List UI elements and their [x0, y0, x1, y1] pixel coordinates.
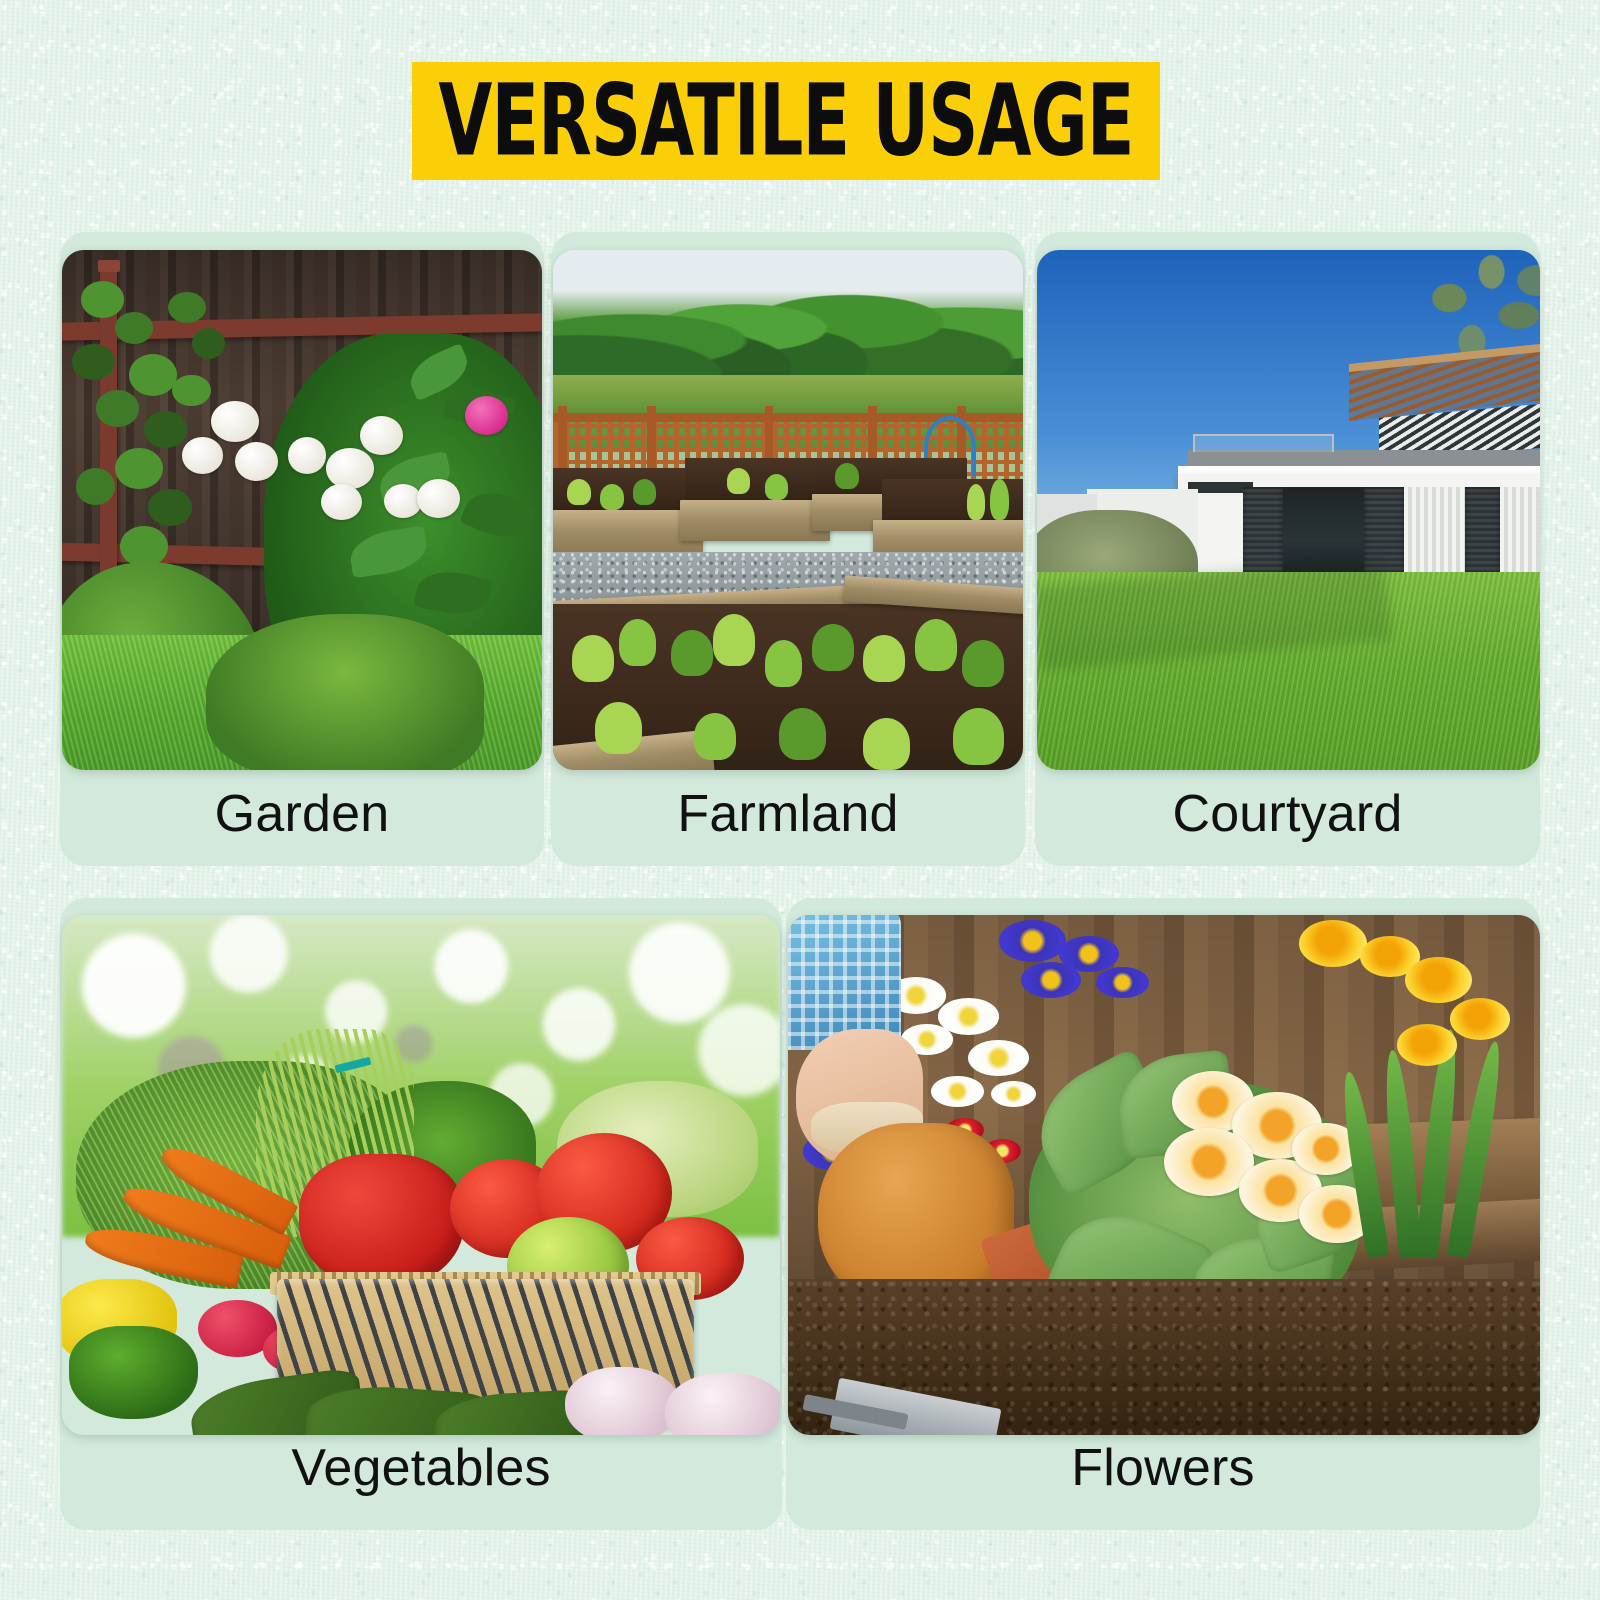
seedling	[727, 468, 751, 494]
ivy-leaf-icon	[144, 411, 187, 447]
photo-vegetables	[62, 915, 780, 1435]
scene-vegetables	[62, 915, 780, 1435]
scene-courtyard	[1037, 250, 1540, 770]
seedling	[600, 484, 624, 510]
white-peony-bloom	[417, 479, 460, 518]
blue-primula-flower	[1096, 967, 1149, 998]
white-primula-flower	[931, 1076, 984, 1107]
ivy-leaf-icon	[115, 448, 163, 490]
louvered-shutter	[1243, 487, 1283, 575]
lettuce-seedling	[765, 640, 803, 687]
seedling	[765, 474, 789, 500]
garlic-bulb	[565, 1367, 680, 1435]
photo-courtyard	[1037, 250, 1540, 770]
white-peony-bloom	[182, 437, 223, 473]
seedling	[567, 479, 591, 505]
ivy-leaf-icon	[96, 390, 139, 426]
daffodil-flower	[1450, 998, 1510, 1040]
ivy-leaf-icon	[129, 354, 177, 396]
banner-title-text: VERSATILE USAGE	[438, 72, 1133, 171]
lettuce-seedling	[572, 635, 614, 682]
ivy-leaf-icon	[148, 489, 191, 525]
ivy-leaf-icon	[192, 328, 226, 359]
scene-flowers	[788, 915, 1540, 1435]
ivy-leaf-icon	[76, 468, 114, 504]
ivy-leaf-icon	[168, 292, 206, 323]
white-peony-bloom	[211, 401, 259, 443]
window-blinds	[1404, 487, 1464, 575]
low-shrub	[206, 614, 484, 770]
window-blinds	[1500, 487, 1540, 575]
louvered-shutter	[1465, 487, 1500, 575]
raised-bed	[680, 500, 830, 542]
lettuce-seedling	[619, 619, 657, 666]
ivy-leaf-icon	[115, 312, 153, 343]
red-bell-pepper	[299, 1154, 464, 1289]
lettuce-seedling	[863, 718, 910, 770]
photo-garden	[62, 250, 542, 770]
daffodil-flower	[1299, 920, 1367, 967]
daffodil-flower	[1397, 1024, 1457, 1066]
white-primula-flower	[968, 1040, 1028, 1076]
blue-primula-flower	[999, 920, 1067, 962]
ivy-leaf-icon	[81, 281, 124, 317]
white-peony-bloom	[326, 448, 374, 490]
onion-shoot	[967, 484, 986, 520]
usage-card-grid: Garden	[0, 0, 1600, 1600]
seedling	[633, 479, 657, 505]
lettuce-seedling	[779, 708, 826, 760]
scene-farmland	[553, 250, 1023, 770]
lettuce-seedling	[962, 640, 1004, 687]
lettuce-seedling	[671, 630, 713, 677]
ivy-leaf-icon	[72, 344, 115, 380]
lettuce-seedling	[713, 614, 755, 666]
card-label-vegetables: Vegetables	[60, 1438, 782, 1498]
glass-balustrade	[1193, 434, 1334, 452]
white-peony-bloom	[360, 416, 403, 455]
pink-peony-bloom	[465, 396, 508, 435]
ivy-leaf-icon	[120, 526, 168, 568]
fence-post-cap	[98, 260, 120, 271]
white-peony-bloom	[288, 437, 326, 473]
green-bell-pepper	[69, 1326, 198, 1420]
lettuce-seedling	[915, 619, 957, 671]
blue-primula-flower	[1021, 962, 1081, 998]
photo-farmland	[553, 250, 1023, 770]
lettuce-seedling	[694, 713, 736, 760]
card-label-courtyard: Courtyard	[1035, 784, 1540, 844]
lettuce-seedling	[595, 702, 642, 754]
card-label-garden: Garden	[60, 784, 544, 844]
lettuce-seedling	[863, 635, 905, 682]
card-label-flowers: Flowers	[786, 1438, 1540, 1498]
scene-garden	[62, 250, 542, 770]
white-peony-bloom	[321, 484, 362, 520]
photo-flowers	[788, 915, 1540, 1435]
seedling	[835, 463, 859, 489]
lettuce-seedling	[953, 708, 1005, 765]
title-banner: VERSATILE USAGE	[412, 62, 1160, 180]
ivy-leaf-icon	[172, 375, 210, 406]
lettuce-seedling	[812, 624, 854, 671]
card-label-farmland: Farmland	[551, 784, 1025, 844]
onion-shoot	[990, 479, 1009, 521]
